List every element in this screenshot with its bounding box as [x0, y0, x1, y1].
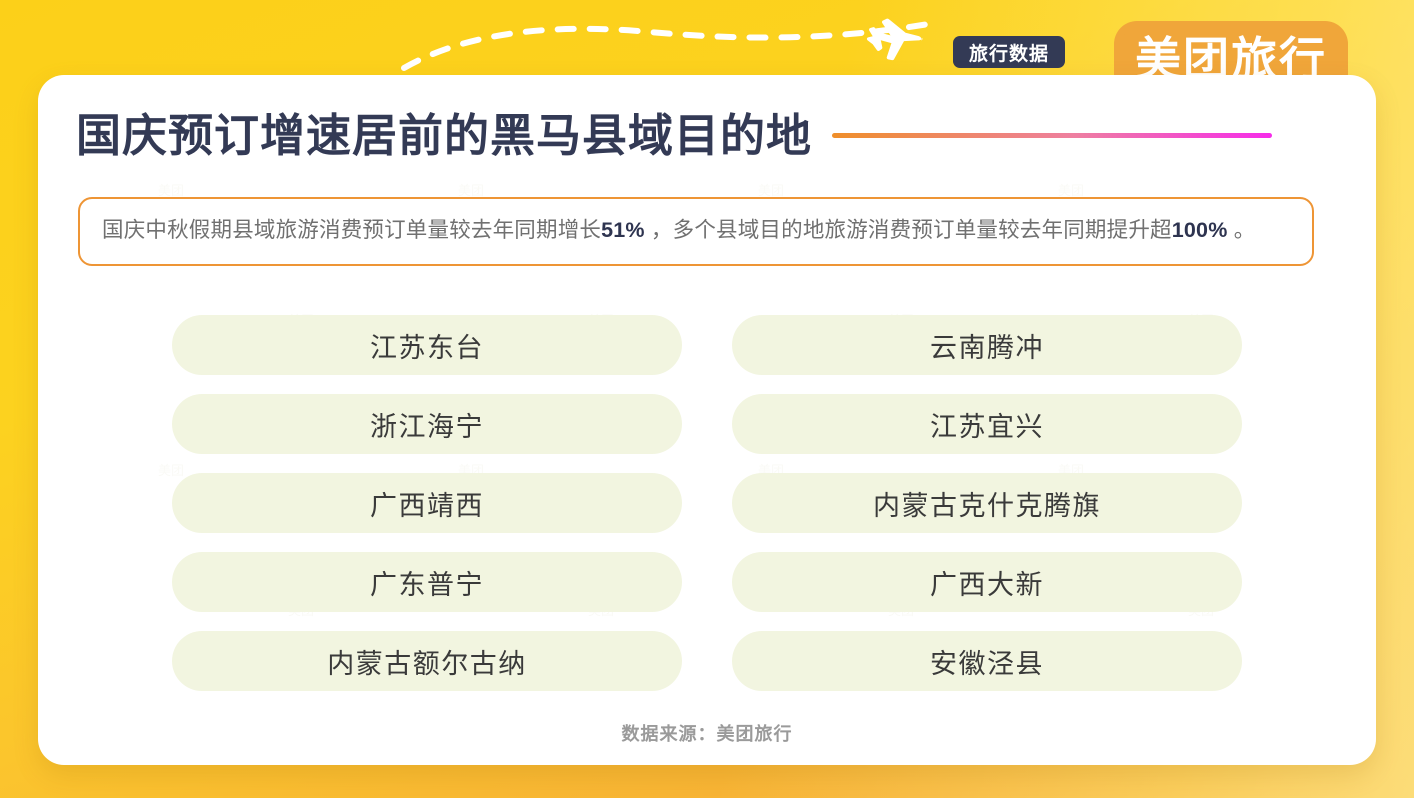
data-source-label: 数据来源：美团旅行	[38, 720, 1376, 746]
airplane-icon	[858, 18, 924, 62]
description-text: 国庆中秋假期县域旅游消费预订单量较去年同期增长51% ，多个县域目的地旅游消费预…	[102, 213, 1290, 248]
travel-data-badge: 旅行数据	[953, 36, 1065, 68]
svg-text:美团: 美团	[758, 183, 784, 198]
destination-label: 内蒙古额尔古纳	[327, 642, 527, 681]
description-part-2: ，多个县域目的地旅游消费预订单量较去年同期提升超	[645, 218, 1172, 242]
destination-label: 江苏东台	[370, 326, 484, 365]
destination-label: 广西大新	[930, 563, 1044, 602]
destination-pill[interactable]: 浙江海宁	[172, 394, 682, 454]
description-part-3: 。	[1228, 218, 1256, 242]
destination-pill[interactable]: 江苏宜兴	[732, 394, 1242, 454]
destination-pill[interactable]: 广西大新	[732, 552, 1242, 612]
svg-text:美团: 美团	[458, 183, 484, 198]
title-gradient-rule	[832, 133, 1272, 138]
destination-label: 广东普宁	[370, 563, 484, 602]
destination-pill[interactable]: 江苏东台	[172, 315, 682, 375]
destination-label: 浙江海宁	[370, 405, 484, 444]
destination-label: 安徽泾县	[930, 642, 1044, 681]
description-box: 国庆中秋假期县域旅游消费预订单量较去年同期增长51% ，多个县域目的地旅游消费预…	[78, 197, 1314, 266]
destination-pill[interactable]: 内蒙古额尔古纳	[172, 631, 682, 691]
badge-label: 旅行数据	[969, 39, 1049, 66]
destination-label: 广西靖西	[370, 484, 484, 523]
destination-pill[interactable]: 广东普宁	[172, 552, 682, 612]
destination-grid: 江苏东台 云南腾冲 浙江海宁 江苏宜兴 广西靖西 内蒙古克什克腾旗 广东普宁 广…	[172, 315, 1242, 691]
destination-pill[interactable]: 内蒙古克什克腾旗	[732, 473, 1242, 533]
infographic-root: 旅行数据 美团旅行 美团美团美团美团 美团美团美团美团 美团美团美团美团 美团美…	[0, 0, 1414, 798]
title-row: 国庆预订增速居前的黑马县域目的地	[76, 113, 1352, 158]
svg-text:美团: 美团	[1058, 183, 1084, 198]
page-title: 国庆预订增速居前的黑马县域目的地	[76, 113, 812, 158]
destination-label: 江苏宜兴	[930, 405, 1044, 444]
description-highlight-1: 51%	[601, 218, 645, 242]
svg-text:美团: 美团	[158, 183, 184, 198]
destination-label: 内蒙古克什克腾旗	[873, 484, 1101, 523]
destination-label: 云南腾冲	[930, 326, 1044, 365]
destination-pill[interactable]: 云南腾冲	[732, 315, 1242, 375]
destination-pill[interactable]: 广西靖西	[172, 473, 682, 533]
destination-pill[interactable]: 安徽泾县	[732, 631, 1242, 691]
description-part-1: 国庆中秋假期县域旅游消费预订单量较去年同期增长	[102, 218, 601, 242]
description-highlight-2: 100%	[1172, 218, 1228, 242]
content-card: 美团美团美团美团 美团美团美团美团 美团美团美团美团 美团美团美团美团 国庆预订…	[38, 75, 1376, 765]
